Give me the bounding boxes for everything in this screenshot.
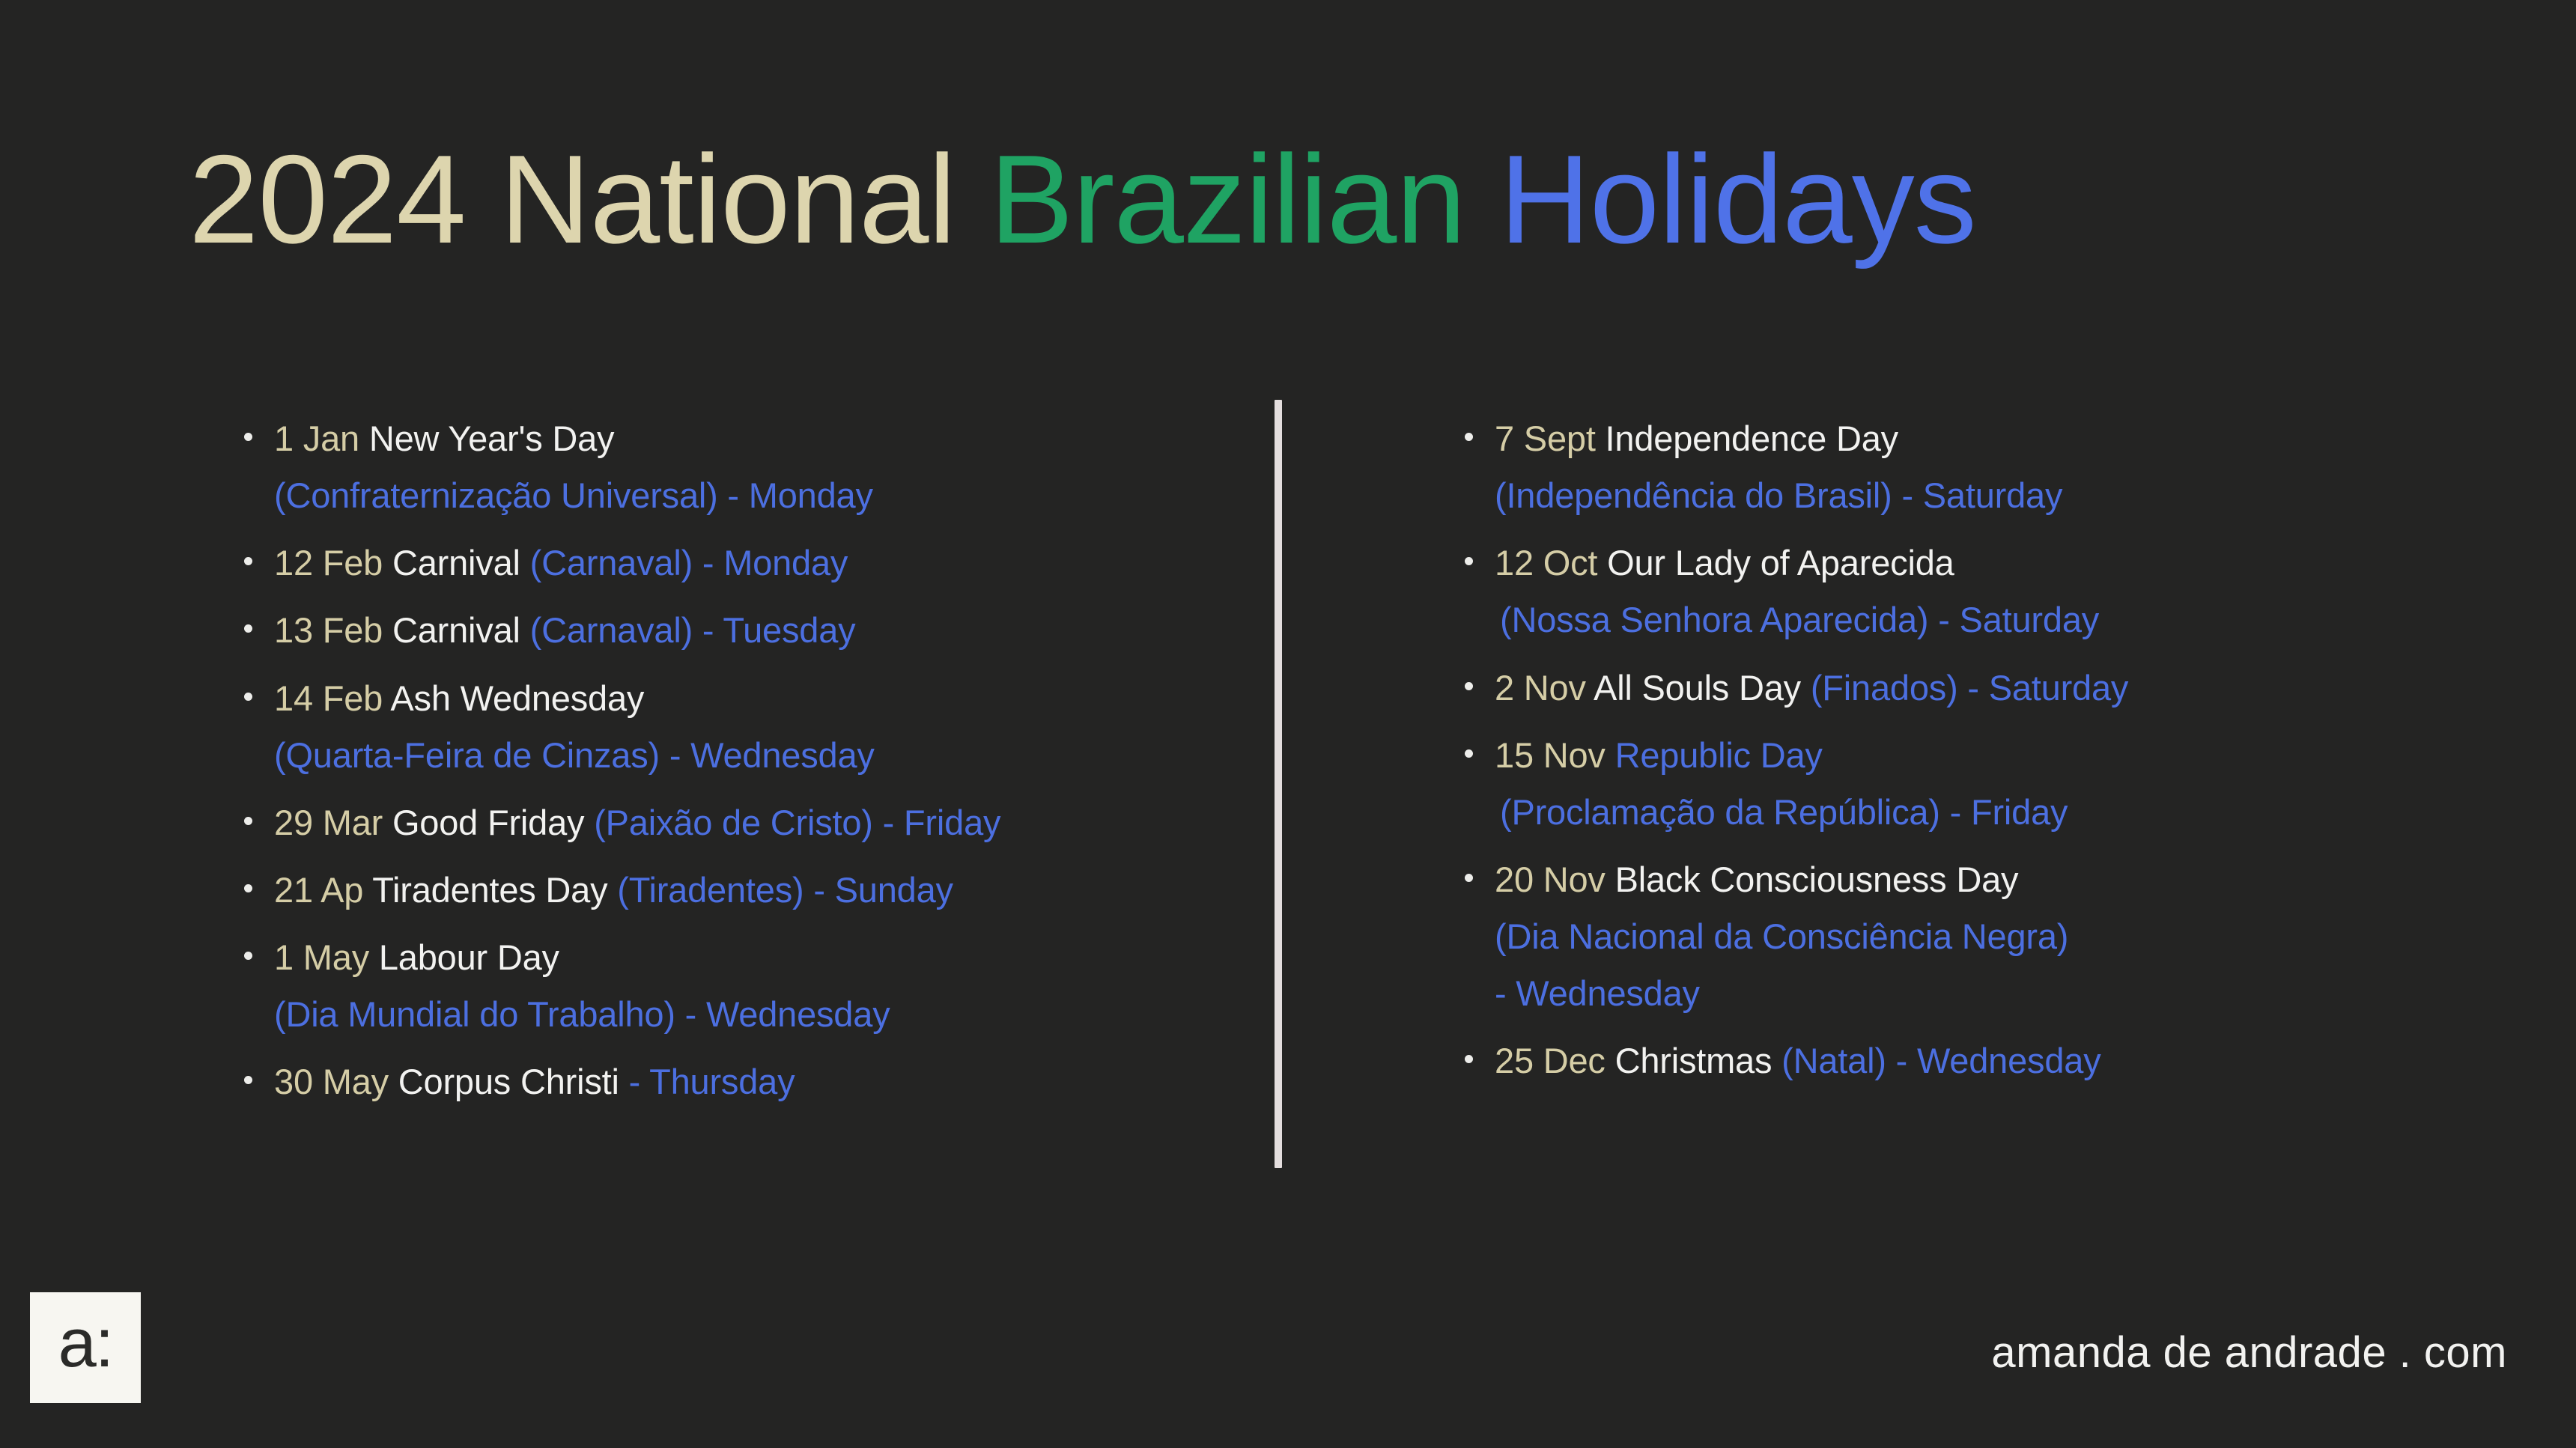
title-part-holidays: Holidays — [1499, 129, 1975, 270]
holiday-name-native: (Paixão de Cristo) - Friday — [594, 803, 1000, 842]
holiday-date: 1 May — [274, 937, 379, 977]
bullet-dot-icon — [244, 693, 252, 701]
holiday-date: 30 May — [274, 1062, 398, 1101]
holiday-name-native: (Carnaval) - Tuesday — [530, 610, 856, 650]
holiday-item: 14 Feb Ash Wednesday(Quarta-Feira de Cin… — [238, 670, 1212, 784]
holiday-name-native: (Proclamação da República) - Friday — [1495, 784, 2447, 841]
bullet-dot-icon — [244, 952, 252, 960]
bullet-dot-icon — [1465, 749, 1473, 758]
holiday-date: 1 Jan — [274, 419, 369, 458]
bullet-dot-icon — [244, 817, 252, 825]
page-title: 2024 National Brazilian Holidays — [189, 129, 2435, 270]
holiday-item: 12 Oct Our Lady of Aparecida(Nossa Senho… — [1459, 535, 2447, 648]
holiday-item: 25 Dec Christmas (Natal) - Wednesday — [1459, 1032, 2447, 1089]
holiday-item: 29 Mar Good Friday (Paixão de Cristo) - … — [238, 794, 1212, 851]
bullet-dot-icon — [244, 433, 252, 441]
holiday-date: 15 Nov — [1495, 735, 1615, 775]
holiday-column-left: 1 Jan New Year's Day(Confraternização Un… — [238, 410, 1212, 1121]
holiday-date: 12 Oct — [1495, 543, 1607, 582]
holiday-name-english: New Year's Day — [369, 419, 615, 458]
holiday-item: 30 May Corpus Christi - Thursday — [238, 1053, 1212, 1110]
holiday-date: 20 Nov — [1495, 860, 1615, 899]
bullet-dot-icon — [1465, 1055, 1473, 1063]
slide-canvas: 2024 National Brazilian Holidays 1 Jan N… — [0, 0, 2576, 1448]
holiday-date: 13 Feb — [274, 610, 392, 650]
holiday-list-left: 1 Jan New Year's Day(Confraternização Un… — [238, 410, 1212, 1110]
holiday-name-native: (Independência do Brasil) - Saturday — [1495, 467, 2447, 524]
holiday-date: 12 Feb — [274, 543, 392, 582]
holiday-item: 20 Nov Black Consciousness Day(Dia Nacio… — [1459, 851, 2447, 1022]
bullet-dot-icon — [1465, 682, 1473, 690]
holiday-name-native: (Quarta-Feira de Cinzas) - Wednesday — [274, 727, 1212, 784]
holiday-date: 7 Sept — [1495, 419, 1606, 458]
title-part-year-national: 2024 National — [189, 129, 989, 270]
holiday-name-native: (Carnaval) - Monday — [530, 543, 848, 582]
holiday-date: 21 Ap — [274, 870, 372, 910]
logo-mark-text: a: — [58, 1309, 113, 1378]
holiday-name-native: (Dia Mundial do Trabalho) - Wednesday — [274, 986, 1212, 1043]
holiday-date: 29 Mar — [274, 803, 392, 842]
bullet-dot-icon — [244, 624, 252, 633]
holiday-item: 12 Feb Carnival (Carnaval) - Monday — [238, 535, 1212, 591]
bullet-dot-icon — [1465, 433, 1473, 441]
holiday-name-native: (Dia Nacional da Consciência Negra) — [1495, 908, 2447, 965]
holiday-name-english: Tiradentes Day — [372, 870, 617, 910]
title-part-brazilian: Brazilian — [989, 129, 1499, 270]
holiday-name-native: (Natal) - Wednesday — [1781, 1041, 2100, 1080]
holiday-date: 25 Dec — [1495, 1041, 1615, 1080]
holiday-name-english: Christmas — [1615, 1041, 1782, 1080]
holiday-name-english: Republic Day — [1615, 735, 1823, 775]
holiday-name-english: Black Consciousness Day — [1615, 860, 2019, 899]
bullet-dot-icon — [244, 1076, 252, 1084]
holiday-name-native: (Finados) - Saturday — [1811, 668, 2128, 708]
holiday-name-english: Our Lady of Aparecida — [1607, 543, 1954, 582]
holiday-name-english: Good Friday — [392, 803, 594, 842]
holiday-name-english: Independence Day — [1606, 419, 1898, 458]
holiday-name-english: Ash Wednesday — [390, 678, 644, 718]
holiday-item: 7 Sept Independence Day(Independência do… — [1459, 410, 2447, 524]
holiday-weekday-overflow: - Wednesday — [1495, 965, 2447, 1022]
holiday-item: 1 May Labour Day(Dia Mundial do Trabalho… — [238, 929, 1212, 1043]
bullet-dot-icon — [244, 557, 252, 565]
holiday-item: 15 Nov Republic Day(Proclamação da Repúb… — [1459, 727, 2447, 841]
holiday-column-right: 7 Sept Independence Day(Independência do… — [1459, 410, 2447, 1100]
holiday-name-english: All Souls Day — [1594, 668, 1811, 708]
holiday-name-native: (Nossa Senhora Aparecida) - Saturday — [1495, 591, 2447, 648]
bullet-dot-icon — [244, 884, 252, 892]
holiday-date: 14 Feb — [274, 678, 390, 718]
column-divider — [1275, 400, 1282, 1168]
holiday-name-english: Carnival — [392, 543, 530, 582]
holiday-item: 1 Jan New Year's Day(Confraternização Un… — [238, 410, 1212, 524]
bullet-dot-icon — [1465, 874, 1473, 882]
holiday-name-english: Labour Day — [379, 937, 559, 977]
holiday-name-native: (Tiradentes) - Sunday — [617, 870, 953, 910]
holiday-name-native: (Confraternização Universal) - Monday — [274, 467, 1212, 524]
footer-website: amanda de andrade . com — [1991, 1327, 2507, 1378]
holiday-item: 13 Feb Carnival (Carnaval) - Tuesday — [238, 602, 1212, 659]
holiday-item: 21 Ap Tiradentes Day (Tiradentes) - Sund… — [238, 862, 1212, 919]
holiday-name-english: Carnival — [392, 610, 530, 650]
holiday-name-english: Corpus Christi — [398, 1062, 629, 1101]
holiday-list-right: 7 Sept Independence Day(Independência do… — [1459, 410, 2447, 1089]
holiday-date: 2 Nov — [1495, 668, 1594, 708]
holiday-name-native: - Thursday — [629, 1062, 795, 1101]
bullet-dot-icon — [1465, 557, 1473, 565]
holiday-item: 2 Nov All Souls Day (Finados) - Saturday — [1459, 660, 2447, 717]
brand-logo[interactable]: a: — [30, 1292, 141, 1403]
